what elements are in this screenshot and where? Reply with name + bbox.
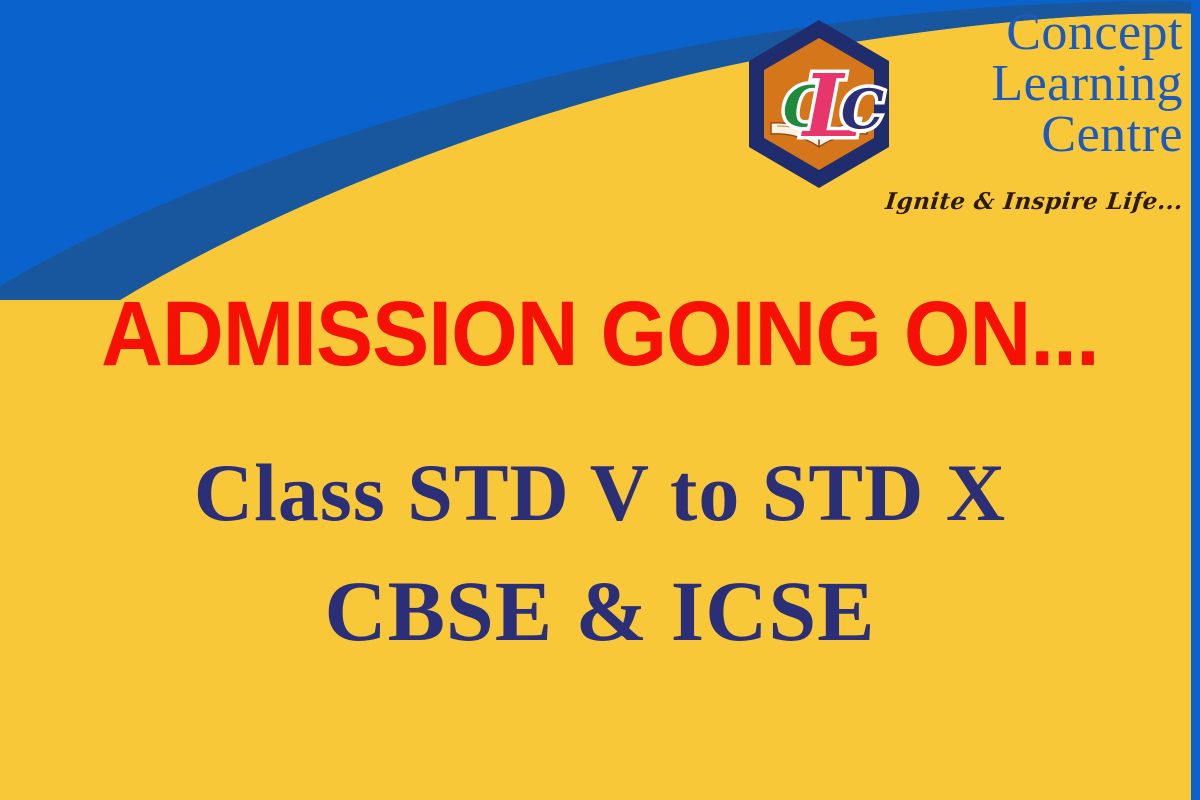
clc-hexagon-book-logo: C C L L C C — [743, 18, 895, 190]
svg-text:C: C — [841, 77, 884, 141]
brand-block: C C L L C C Concept Learning Centre Igni… — [735, 8, 1190, 233]
headline-admission-going-on: ADMISSION GOING ON... — [42, 288, 1158, 380]
brand-wordmark: Concept Learning Centre — [895, 8, 1183, 161]
subheading-boards: CBSE & ICSE — [0, 568, 1200, 654]
right-edge-blue-strip — [1191, 0, 1200, 800]
brand-tagline: Ignite & Inspire Life... — [854, 188, 1185, 215]
wordmark-line-3: Centre — [895, 110, 1183, 161]
wordmark-line-1: Concept — [895, 8, 1183, 59]
wordmark-line-2: Learning — [895, 59, 1183, 110]
subheading-class-range: Class STD V to STD X — [0, 452, 1200, 534]
admission-poster: C C L L C C Concept Learning Centre Igni… — [0, 0, 1200, 800]
